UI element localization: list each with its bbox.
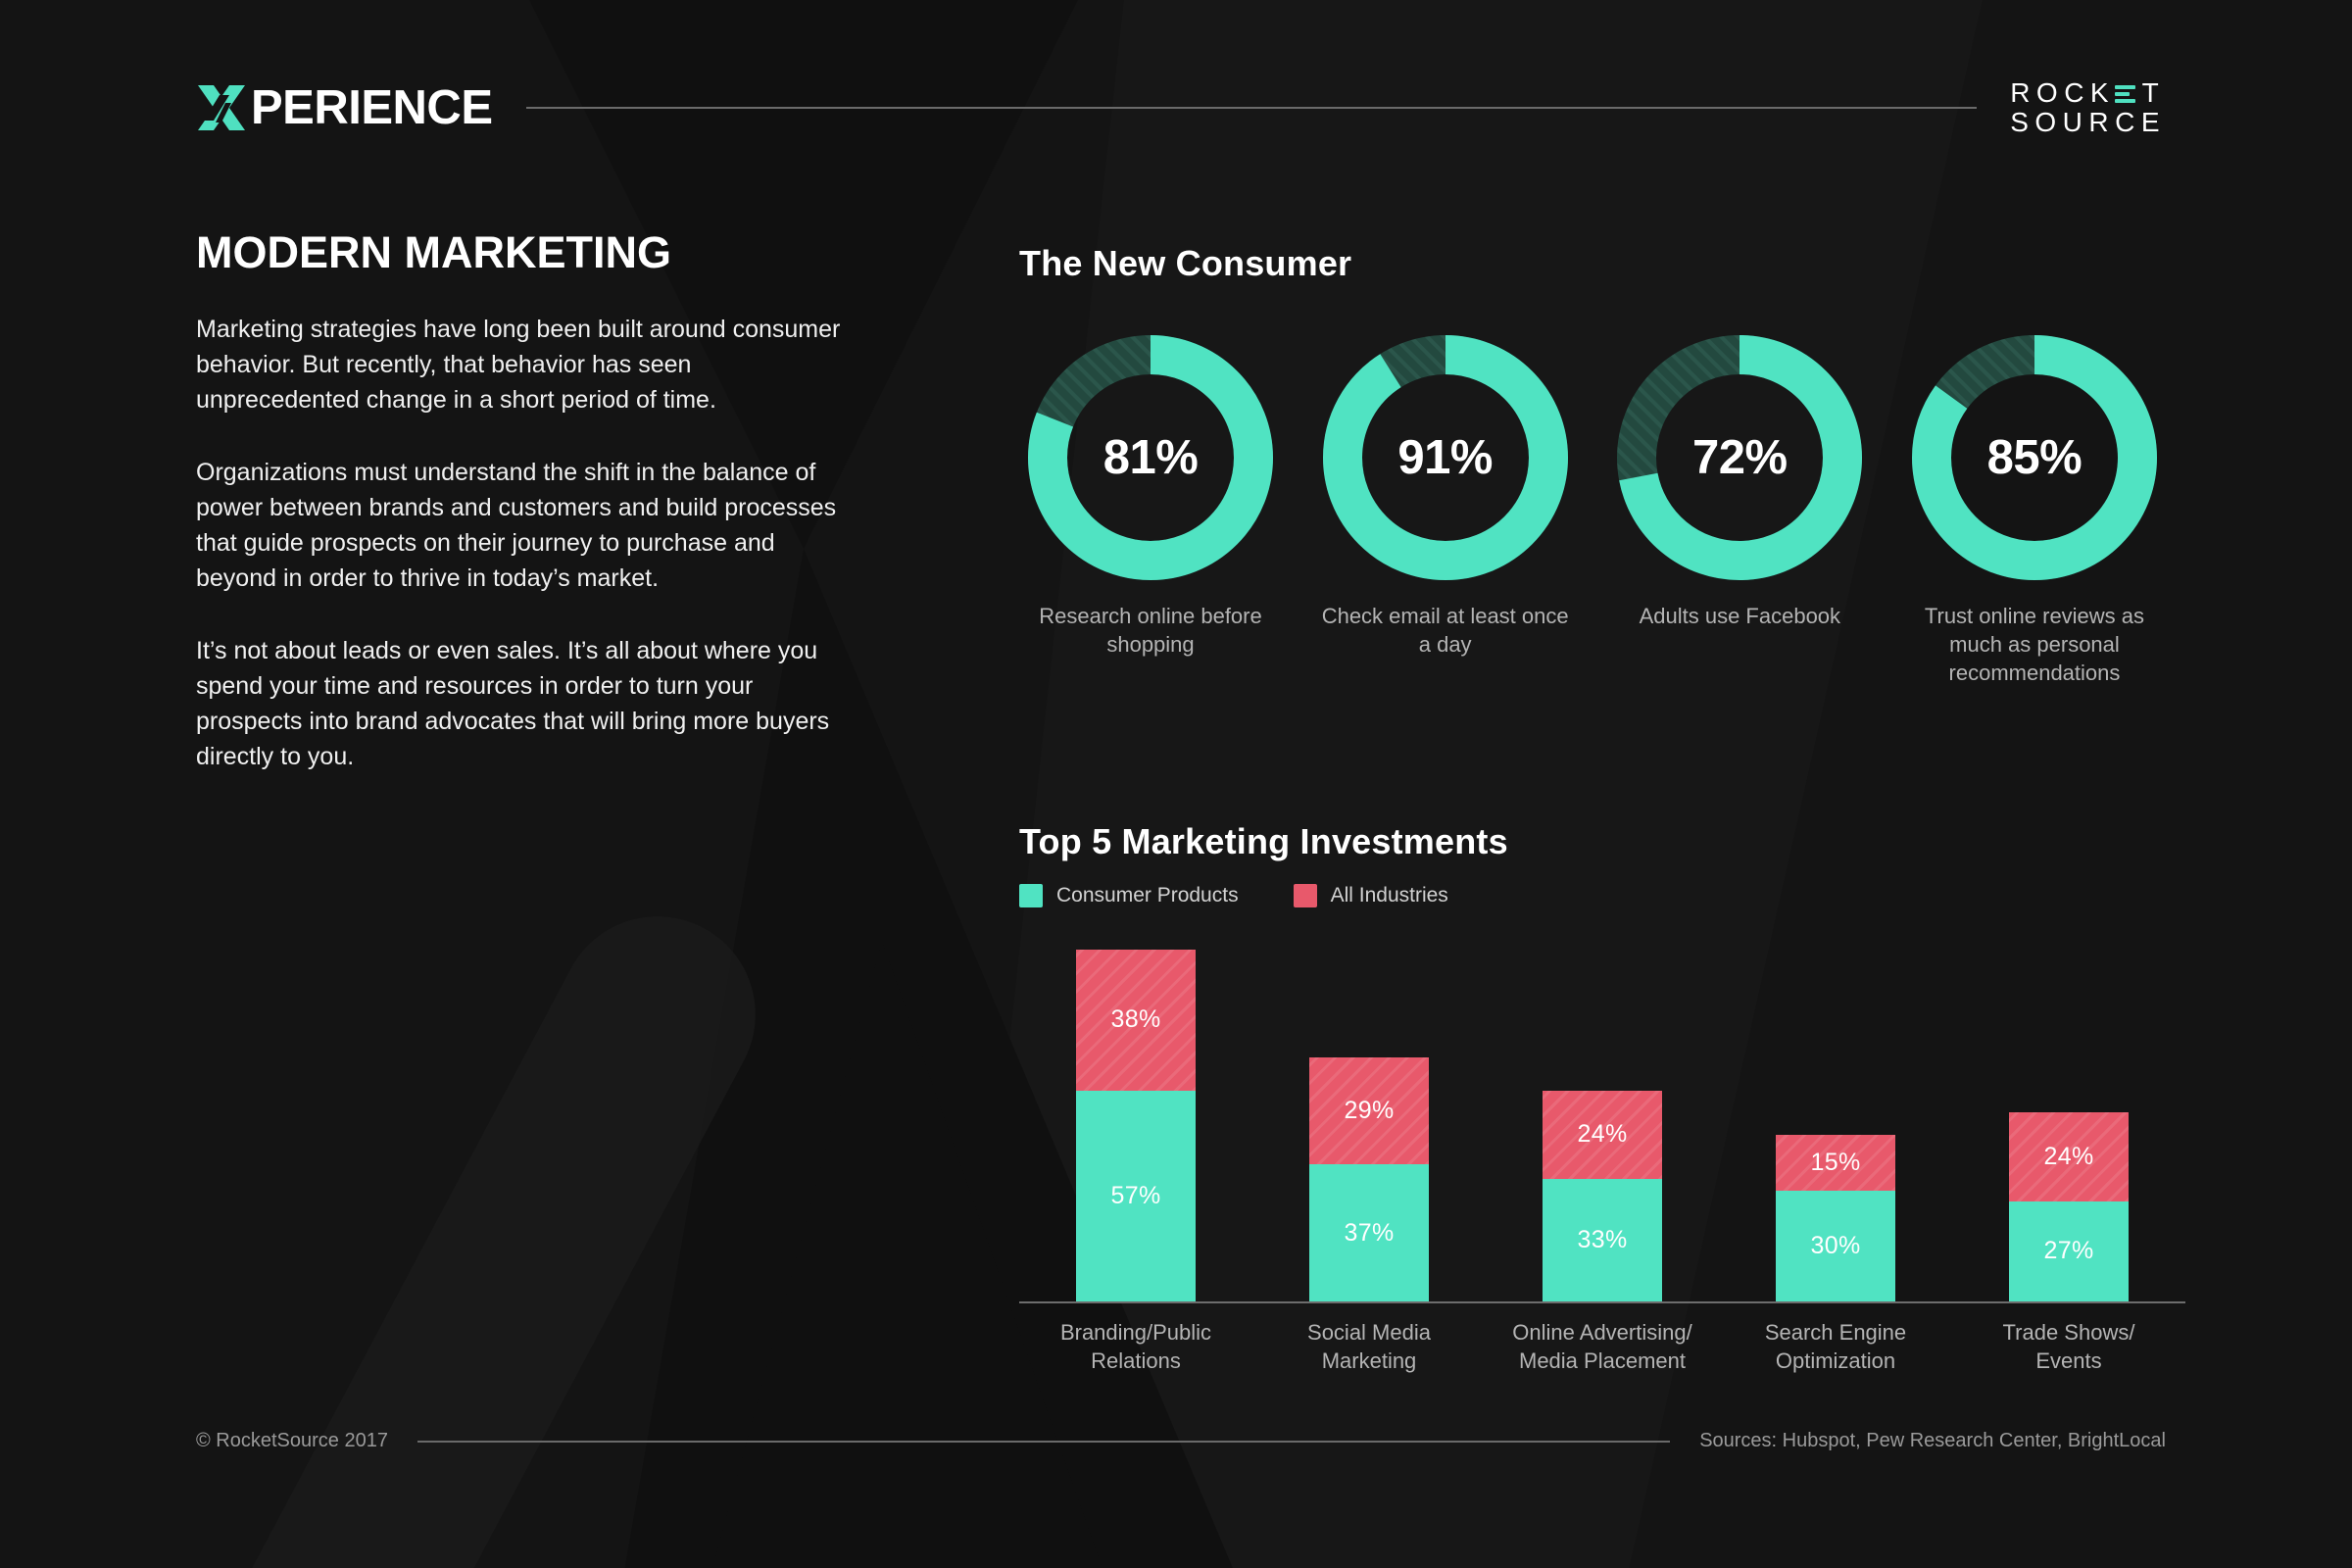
donut-value: 81% (1028, 335, 1273, 580)
stacked-bar-plot: 38%57%29%37%24%33%15%30%24%27% Branding/… (1019, 931, 2185, 1303)
bar-column[interactable]: 24%27% (1952, 931, 2185, 1301)
intro-column: MODERN MARKETING Marketing strategies ha… (196, 227, 843, 774)
donut-value: 72% (1617, 335, 1862, 580)
x-axis-label: Trade Shows/Events (1952, 1319, 2185, 1375)
bar-segment-consumer-products: 37% (1309, 1164, 1429, 1301)
xperience-logo: PERIENCE (196, 83, 493, 132)
rocket-suffix: T (2142, 78, 2166, 108)
stacked-bar: 29%37% (1309, 1057, 1429, 1301)
bar-column[interactable]: 29%37% (1252, 931, 1486, 1301)
x-axis-labels: Branding/PublicRelationsSocial MediaMark… (1019, 1319, 2185, 1375)
bar-segment-consumer-products: 30% (1776, 1191, 1895, 1301)
bar-segment-all-industries: 15% (1776, 1135, 1895, 1191)
donut-value: 85% (1912, 335, 2157, 580)
donut-value: 91% (1323, 335, 1568, 580)
bar-segment-all-industries: 29% (1309, 1057, 1429, 1165)
legend-label: Consumer Products (1056, 884, 1239, 907)
x-axis-label: Search EngineOptimization (1719, 1319, 1952, 1375)
investments-section: Top 5 Marketing Investments Consumer Pro… (1019, 821, 2185, 1303)
stacked-bar: 24%27% (2009, 1112, 2129, 1301)
donut-stat-3: 72%Adults use Facebook (1608, 335, 1871, 687)
footer-divider (417, 1441, 1670, 1443)
legend-item-1[interactable]: Consumer Products (1019, 884, 1239, 907)
investments-title: Top 5 Marketing Investments (1019, 821, 2185, 862)
legend-label: All Industries (1331, 884, 1448, 907)
page-header: PERIENCE ROCK T SOURCE (196, 69, 2166, 147)
x-axis-label: Branding/PublicRelations (1019, 1319, 1252, 1375)
chart-legend: Consumer ProductsAll Industries (1019, 884, 2185, 907)
bar-column[interactable]: 15%30% (1719, 931, 1952, 1301)
x-axis-line (1019, 1301, 2185, 1303)
legend-item-2[interactable]: All Industries (1294, 884, 1448, 907)
stacked-bar: 15%30% (1776, 1135, 1895, 1301)
donut-gauge: 85% (1912, 335, 2157, 580)
intro-paragraph-1: Marketing strategies have long been buil… (196, 312, 843, 417)
page-title: MODERN MARKETING (196, 227, 843, 278)
donut-caption: Research online before shopping (1019, 602, 1282, 659)
intro-paragraph-3: It’s not about leads or even sales. It’s… (196, 633, 843, 774)
bar-segment-consumer-products: 57% (1076, 1091, 1196, 1301)
intro-paragraph-2: Organizations must understand the shift … (196, 455, 843, 596)
bar-segment-consumer-products: 27% (2009, 1201, 2129, 1301)
rocket-prefix: ROCK (2010, 78, 2115, 108)
infographic-page: PERIENCE ROCK T SOURCE MODERN MARKETING … (0, 0, 2352, 1568)
donut-caption: Adults use Facebook (1640, 602, 1840, 630)
donut-gauge: 72% (1617, 335, 1862, 580)
donut-gauge: 81% (1028, 335, 1273, 580)
brand-wordmark: PERIENCE (251, 84, 493, 132)
donut-gauge: 91% (1323, 335, 1568, 580)
new-consumer-title: The New Consumer (1019, 243, 2166, 284)
legend-swatch-icon (1019, 884, 1043, 907)
sources-text: Sources: Hubspot, Pew Research Center, B… (1699, 1430, 2166, 1452)
bar-column[interactable]: 24%33% (1486, 931, 1719, 1301)
header-divider (526, 107, 1978, 109)
bar-segment-all-industries: 38% (1076, 950, 1196, 1091)
page-footer: © RocketSource 2017 Sources: Hubspot, Pe… (196, 1430, 2166, 1452)
x-axis-label: Social MediaMarketing (1252, 1319, 1486, 1375)
x-axis-label: Online Advertising/Media Placement (1486, 1319, 1719, 1375)
rocket-e-icon (2115, 84, 2135, 104)
rocketsource-line-1: ROCK T (2010, 78, 2166, 108)
logo-x-icon (196, 83, 247, 132)
rocketsource-line-2: SOURCE (2010, 108, 2166, 137)
stacked-bar: 38%57% (1076, 950, 1196, 1301)
bar-segment-all-industries: 24% (2009, 1112, 2129, 1201)
copyright-text: © RocketSource 2017 (196, 1430, 388, 1452)
bar-columns: 38%57%29%37%24%33%15%30%24%27% (1019, 931, 2185, 1301)
donut-caption: Check email at least once a day (1314, 602, 1577, 659)
source-word: SOURCE (2010, 108, 2166, 137)
donut-stat-2: 91%Check email at least once a day (1314, 335, 1577, 687)
bar-segment-all-industries: 24% (1543, 1091, 1662, 1180)
bar-column[interactable]: 38%57% (1019, 931, 1252, 1301)
stacked-bar: 24%33% (1543, 1091, 1662, 1301)
donut-caption: Trust online reviews as much as personal… (1903, 602, 2166, 687)
rocketsource-logo: ROCK T SOURCE (2010, 78, 2166, 136)
legend-swatch-icon (1294, 884, 1317, 907)
bar-segment-consumer-products: 33% (1543, 1179, 1662, 1301)
donut-stat-1: 81%Research online before shopping (1019, 335, 1282, 687)
donut-stat-4: 85%Trust online reviews as much as perso… (1903, 335, 2166, 687)
donut-chart-row: 81%Research online before shopping91%Che… (1019, 335, 2166, 687)
new-consumer-section: The New Consumer 81%Research online befo… (1019, 243, 2166, 687)
